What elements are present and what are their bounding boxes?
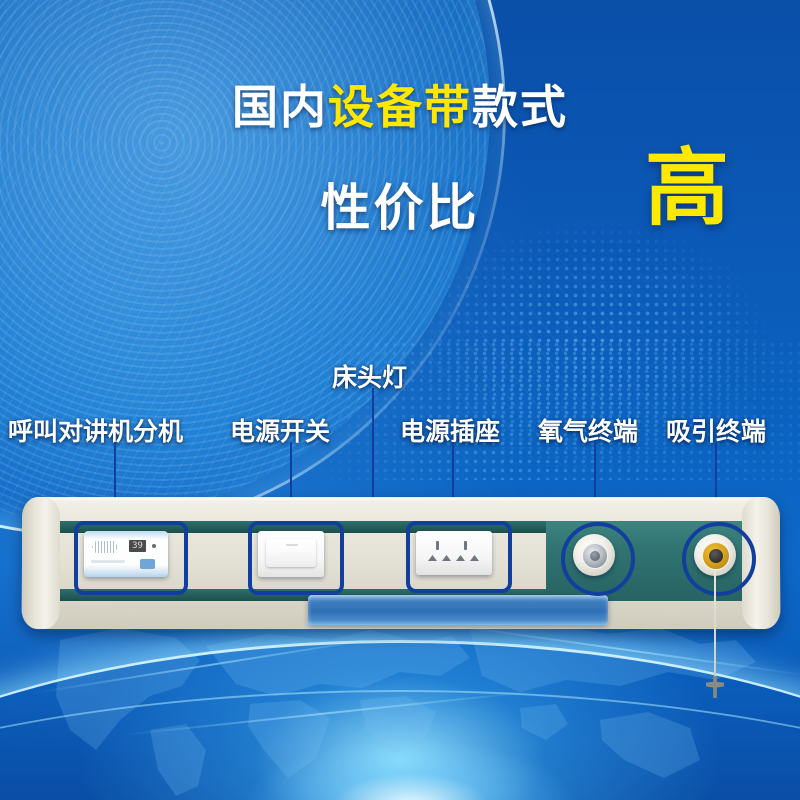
callout-label-power-switch: 电源开关: [230, 412, 330, 448]
horizon-bloom: [180, 660, 640, 800]
pull-cord[interactable]: [714, 570, 716, 678]
callout-label-power-socket: 电源插座: [400, 412, 500, 448]
headline-highlight: 设备带: [328, 81, 472, 133]
promo-banner: 国内设备带款式 性价比 高 呼叫对讲机分机 电源开关 床头灯 电源插座 氧气终端…: [0, 0, 800, 800]
highlight-box-power-socket: [406, 521, 512, 593]
headline-line-1: 国内设备带款式: [0, 84, 800, 130]
headline-emphasis-char: 高: [645, 146, 729, 230]
highlight-circle-suction: [682, 522, 756, 596]
headline-part-1: 国内: [232, 81, 328, 133]
highlight-box-nurse-call: [74, 521, 188, 595]
headline-subtext: 性价比: [321, 168, 480, 240]
callout-label-bedside-lamp: 床头灯: [332, 358, 407, 394]
callout-label-nurse-call: 呼叫对讲机分机: [8, 412, 183, 448]
highlight-box-power-switch: [248, 521, 344, 595]
callout-label-oxygen: 氧气终端: [538, 412, 638, 448]
headline-part-2: 款式: [472, 81, 568, 133]
bedside-lamp-bar[interactable]: [308, 595, 608, 625]
panel-end-cap-left: [22, 497, 60, 629]
highlight-circle-oxygen: [561, 522, 635, 596]
